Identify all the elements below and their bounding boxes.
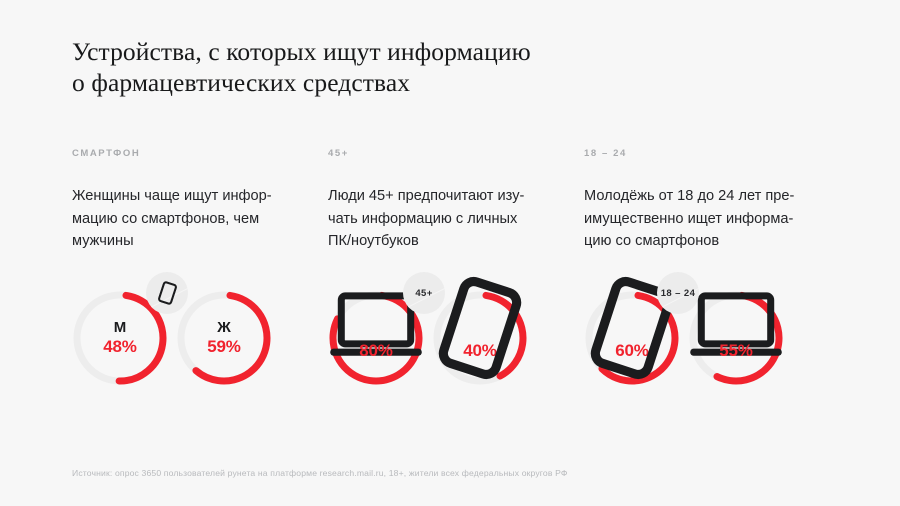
column-45plus: 45+ Люди 45+ предпочитают изу- чать инфо… xyxy=(328,148,584,253)
column-body-line: мацию со смартфонов, чем xyxy=(72,208,308,231)
column-smartphone: СМАРТФОН Женщины чаще ищут инфор- мацию … xyxy=(72,148,328,253)
page-title-line-1: Устройства, с которых ищут информацию xyxy=(72,36,692,67)
donut-arc xyxy=(432,290,528,386)
page-title-line-2: о фармацевтических средствах xyxy=(72,67,692,98)
donut-svg xyxy=(176,290,272,386)
column-body-18-24: Молодёжь от 18 до 24 лет пре- имуществен… xyxy=(584,185,820,253)
column-body-line: Женщины чаще ищут инфор- xyxy=(72,185,308,208)
donut-chart-zh: Ж 59% xyxy=(176,290,272,386)
column-body-line: имущественно ищет информа- xyxy=(584,208,820,231)
badge-label: 45+ xyxy=(415,288,432,299)
column-body-line: Молодёжь от 18 до 24 лет пре- xyxy=(584,185,820,208)
badge-18-24: 18 – 24 xyxy=(657,272,699,314)
donut-group-45plus: 80% 40% xyxy=(328,290,584,386)
column-kicker-45plus: 45+ xyxy=(328,148,584,159)
source-note: Источник: опрос 3650 пользователей рунет… xyxy=(72,468,568,478)
column-kicker-18-24: 18 – 24 xyxy=(584,148,840,159)
column-kicker-smartphone: СМАРТФОН xyxy=(72,148,328,159)
column-body-line: ПК/ноутбуков xyxy=(328,230,564,253)
donut-arc xyxy=(176,290,272,386)
donut-chart-row: М 48% Ж 59% xyxy=(72,290,862,386)
column-body-45plus: Люди 45+ предпочитают изу- чать информац… xyxy=(328,185,564,253)
infographic-canvas: Устройства, с которых ищут информацию о … xyxy=(0,0,900,506)
page-title: Устройства, с которых ищут информацию о … xyxy=(72,36,692,98)
badge-45plus: 45+ xyxy=(403,272,445,314)
column-18-24: 18 – 24 Молодёжь от 18 до 24 лет пре- им… xyxy=(584,148,840,253)
columns-text-row: СМАРТФОН Женщины чаще ищут инфор- мацию … xyxy=(72,148,852,253)
badge-smartphone xyxy=(146,272,188,314)
column-body-line: Люди 45+ предпочитают изу- xyxy=(328,185,564,208)
badge-label: 18 – 24 xyxy=(661,288,696,299)
donut-group-smartphone: М 48% Ж 59% xyxy=(72,290,328,386)
donut-chart-laptop-55: 55% xyxy=(688,290,784,386)
donut-arc xyxy=(688,290,784,386)
column-body-line: чать информацию с личных xyxy=(328,208,564,231)
column-body-smartphone: Женщины чаще ищут инфор- мацию со смартф… xyxy=(72,185,308,253)
donut-group-18-24: 60% 55% xyxy=(584,290,840,386)
smartphone-icon xyxy=(160,282,175,304)
donut-chart-smartphone-40: 40% xyxy=(432,290,528,386)
column-body-line: мужчины xyxy=(72,230,308,253)
donut-svg xyxy=(688,290,784,386)
column-body-line: цию со смартфонов xyxy=(584,230,820,253)
donut-svg xyxy=(432,290,528,386)
